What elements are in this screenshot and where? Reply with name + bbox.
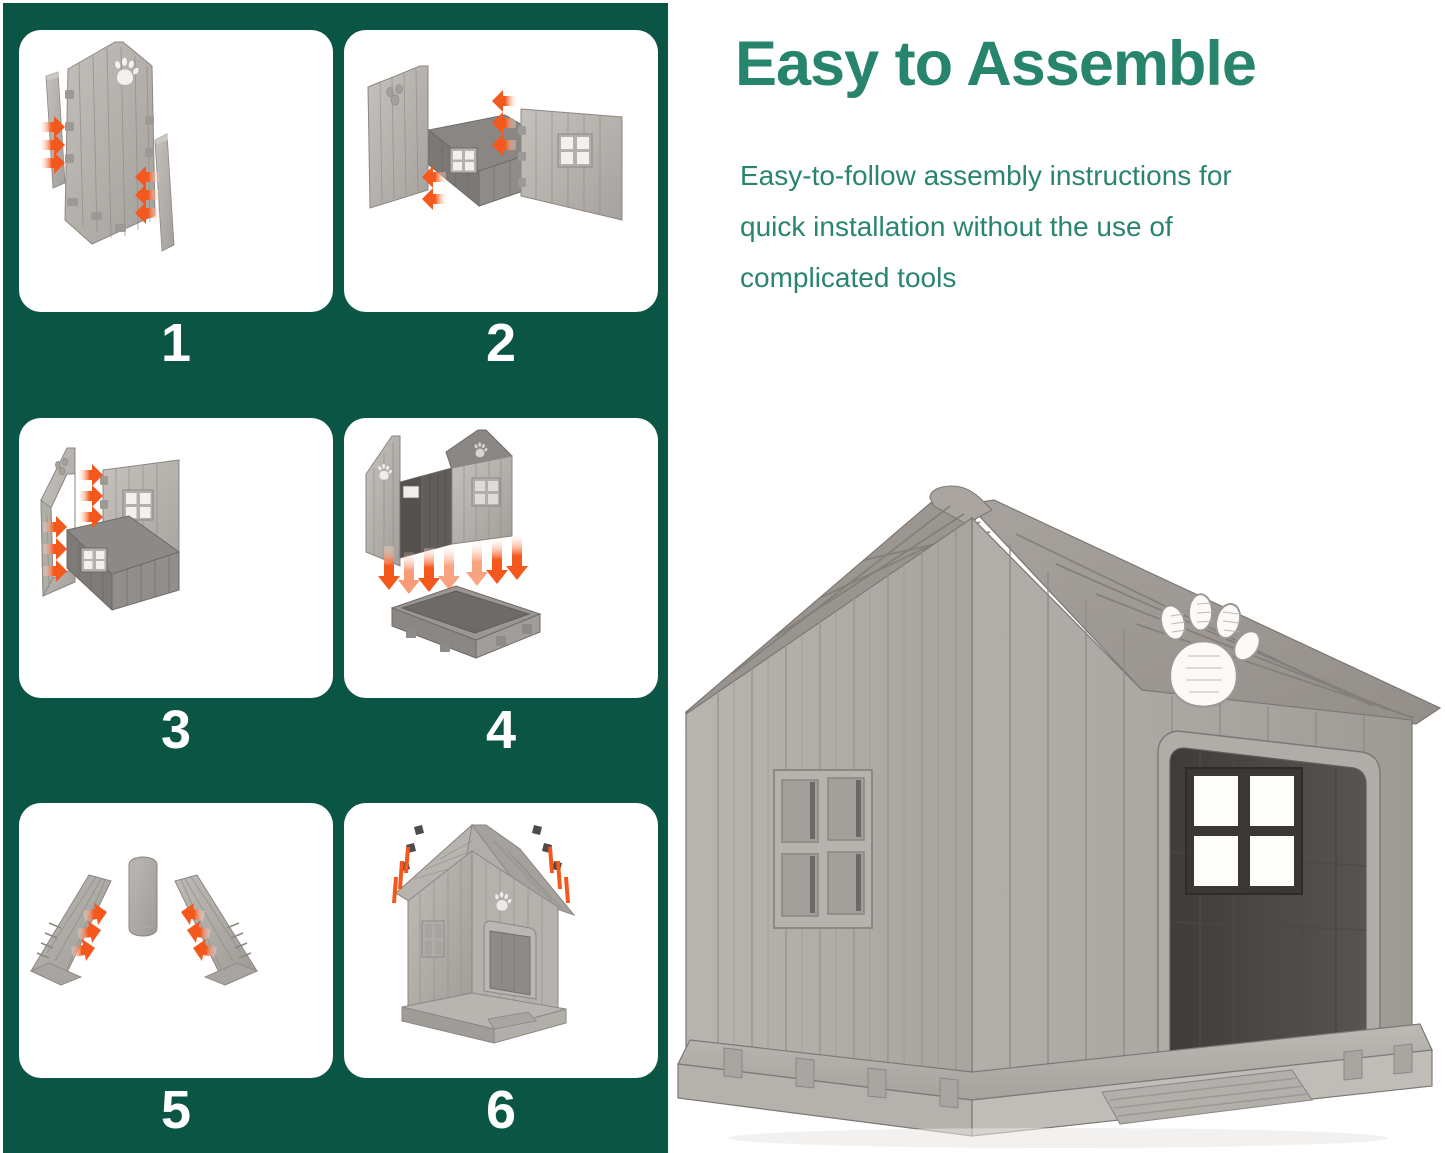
step-number-4: 4 xyxy=(344,703,658,757)
page-title: Easy to Assemble xyxy=(735,28,1395,100)
step-2-illustration xyxy=(344,30,658,312)
base-floor-tray xyxy=(392,586,540,658)
step-card-1[interactable] xyxy=(19,30,333,312)
infographic-root: 1 xyxy=(0,0,1445,1153)
doorway xyxy=(484,921,536,999)
step-cell-4 xyxy=(344,418,658,698)
side-window xyxy=(422,921,444,957)
step-card-4[interactable] xyxy=(344,418,658,698)
side-wall-panel xyxy=(518,109,622,220)
step-3-illustration xyxy=(19,418,333,698)
floor-window xyxy=(81,548,107,572)
product-image xyxy=(672,452,1444,1152)
step-cell-3 xyxy=(19,418,333,698)
step-number-1: 1 xyxy=(19,316,333,370)
front-wall xyxy=(972,518,1412,1112)
assembled-walls xyxy=(366,430,512,566)
assembly-steps-panel: 1 xyxy=(3,3,668,1153)
step-card-5[interactable] xyxy=(19,803,333,1078)
arrow-group-right xyxy=(135,166,159,224)
side-window xyxy=(774,770,872,928)
dog-house-render xyxy=(672,452,1444,1152)
step-1-illustration xyxy=(19,30,333,312)
subtitle-line-2: quick installation without the use of xyxy=(740,201,1410,252)
step-card-6[interactable] xyxy=(344,803,658,1078)
step-6-illustration xyxy=(344,803,658,1078)
step-4-illustration xyxy=(344,418,658,698)
interior-window xyxy=(1186,768,1302,894)
subtitle-line-1: Easy-to-follow assembly instructions for xyxy=(740,150,1410,201)
back-gable-panel xyxy=(368,66,428,208)
step-number-5: 5 xyxy=(19,1083,333,1137)
step-card-2[interactable] xyxy=(344,30,658,312)
step-card-3[interactable] xyxy=(19,418,333,698)
step-number-2: 2 xyxy=(344,316,658,370)
step-cell-2 xyxy=(344,30,658,312)
side-wall-window xyxy=(558,134,592,167)
step-number-3: 3 xyxy=(19,703,333,757)
side-window xyxy=(472,478,500,506)
steps-grid: 1 xyxy=(3,3,668,1153)
subtitle-line-3: complicated tools xyxy=(740,252,1410,303)
ridge-cap xyxy=(129,857,157,936)
arrow-group-left xyxy=(41,116,65,174)
page-subtitle: Easy-to-follow assembly instructions for… xyxy=(740,150,1410,303)
step-5-illustration xyxy=(19,803,333,1078)
floor-window xyxy=(450,148,477,173)
step-cell-1 xyxy=(19,30,333,312)
step-number-6: 6 xyxy=(344,1083,658,1137)
step-cell-6 xyxy=(344,803,658,1078)
contact-shadow xyxy=(728,1128,1388,1148)
back-wall-window xyxy=(123,490,153,520)
step-cell-5 xyxy=(19,803,333,1078)
